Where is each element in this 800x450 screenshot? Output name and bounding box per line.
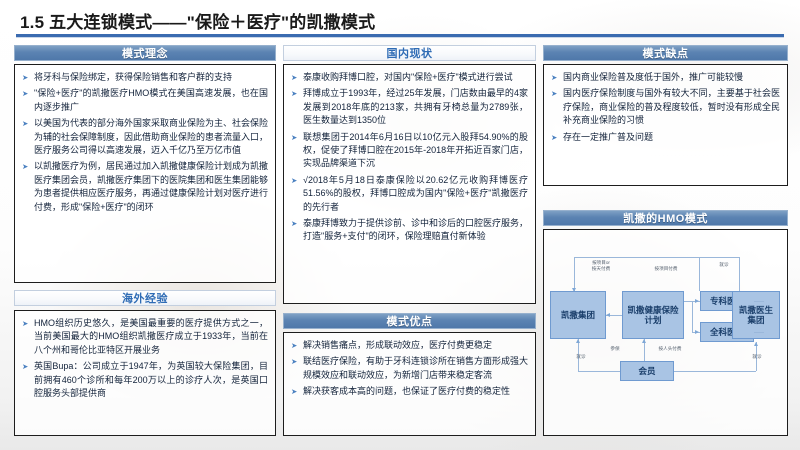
list-item: 解决获客成本高的问题，也保证了医疗付费的稳定性 <box>291 385 528 398</box>
edge-bottom-left-arrow <box>576 339 580 343</box>
list-item: 联想集团于2014年6月16日以10亿元入股拜54.90%的股权，促使了拜博口腔… <box>291 131 528 171</box>
edge-spec-dg <box>754 301 764 302</box>
list-item: 英国Bupa：公司成立于1947年，为英国较大保险集团，目前拥有460个诊所和每… <box>22 360 268 400</box>
bullet-list-pros: 解决销售痛点，形成联动效应，医疗付费更稳定 联结医疗保险，有助于牙科连锁诊所在销… <box>291 339 528 399</box>
bullet-list-concept: 将牙科与保险绑定，获得保险销售和客户群的支持 "保险+医疗"的凯撒医疗HMO模式… <box>22 71 268 214</box>
edge-label-per-capita: 按人头付费 <box>648 346 692 352</box>
edge-top-h2 <box>699 257 739 258</box>
edge-label-visit-top: 就诊 <box>712 262 736 268</box>
edge-bottom-right-arrow <box>754 342 758 346</box>
list-item: 泰康拜博致力于提供诊前、诊中和诊后的口腔医疗服务，打造"服务+支付"的闭环，保险… <box>291 217 528 244</box>
panel-hmo-diagram: 按项目or 按天付费 按项目付费 就诊 凯撒集团 凯撒健康保险计划 专科医生 全… <box>543 229 788 436</box>
edge-gp-dg <box>754 332 764 333</box>
edge-plan-gp-arrow <box>695 330 699 334</box>
bullet-list-domestic: 泰康收购拜博口腔，对国内"保险+医疗"模式进行尝试 拜博成立于1993年，经过2… <box>291 71 528 244</box>
title-underline-soft <box>16 37 784 38</box>
edge-top-h <box>574 257 699 258</box>
section-header-cons: 模式缺点 <box>543 45 788 61</box>
section-header-overseas: 海外经验 <box>14 290 276 306</box>
section-header-hmo: 凯撒的HMO模式 <box>543 210 788 226</box>
edge-plan-branch-v <box>692 301 693 332</box>
list-item: HMO组织历史悠久，是美国最重要的医疗提供方式之一，当前美国最大的HMO组织凯撒… <box>22 317 268 357</box>
edge-plan-to-group-arrow <box>606 313 610 317</box>
edge-label-insure: 参保 <box>602 346 628 352</box>
panel-pros: 解决销售痛点，形成联动效应，医疗付费更稳定 联结医疗保险，有助于牙科连锁诊所在销… <box>283 332 536 436</box>
edge-label-item-or-day: 按项目or 按天付费 <box>578 260 624 272</box>
node-member: 会员 <box>620 361 674 381</box>
list-item: 国内医疗保险制度与国外有较大不同，主要基于社会医疗保险，商业保险的普及程度较低，… <box>551 87 780 127</box>
edge-doctorgroup-v <box>739 257 740 295</box>
section-header-pros: 模式优点 <box>283 313 536 329</box>
list-item: √2018年5月18日泰康保险以20.62亿元收购拜博医疗51.56%的股权，拜… <box>291 174 528 214</box>
node-health-plan: 凯撒健康保险计划 <box>622 291 684 339</box>
list-item: "保险+医疗"的凯撒医疗HMO模式在美国高速发展，也在国内逐步推广 <box>22 87 268 114</box>
list-item: 存在一定推广普及问题 <box>551 131 780 144</box>
edge-top-right-v <box>699 257 700 291</box>
edge-label-visit-left: 就诊 <box>568 354 594 360</box>
panel-cons: 国内商业保险普及度低于国外，推广可能较慢 国内医疗保险制度与国外有较大不同，主要… <box>543 64 788 186</box>
list-item: 联结医疗保险，有助于牙科连锁诊所在销售方面形成强大规模效应和联动效应，为新增门店… <box>291 355 528 382</box>
list-item: 拜博成立于1993年，经过25年发展，门店数由最早的4家发展到2018年底的21… <box>291 87 528 127</box>
list-item: 将牙科与保险绑定，获得保险销售和客户群的支持 <box>22 71 268 84</box>
list-item: 以美国为代表的部分海外国家采取商业保险为主、社会保险为辅的社会保障制度，因此借助… <box>22 117 268 157</box>
edge-bottom-left-h <box>578 371 626 372</box>
panel-concept: 将牙科与保险绑定，获得保险销售和客户群的支持 "保险+医疗"的凯撒医疗HMO模式… <box>14 64 276 283</box>
panel-domestic: 泰康收购拜博口腔，对国内"保险+医疗"模式进行尝试 拜博成立于1993年，经过2… <box>283 64 536 304</box>
edge-bottom-right-h <box>674 371 756 372</box>
section-header-domestic: 国内现状 <box>283 45 536 61</box>
bullet-list-cons: 国内商业保险普及度低于国外，推广可能较慢 国内医疗保险制度与国外有较大不同，主要… <box>551 71 780 144</box>
bullet-list-overseas: HMO组织历史悠久，是美国最重要的医疗提供方式之一，当前美国最大的HMO组织凯撒… <box>22 317 268 400</box>
edge-label-visit-right: 就诊 <box>744 354 770 360</box>
list-item: 泰康收购拜博口腔，对国内"保险+医疗"模式进行尝试 <box>291 71 528 84</box>
section-header-concept: 模式理念 <box>14 45 276 61</box>
hmo-flow-diagram: 按项目or 按天付费 按项目付费 就诊 凯撒集团 凯撒健康保险计划 专科医生 全… <box>544 230 787 435</box>
panel-overseas: HMO组织历史悠久，是美国最重要的医疗提供方式之一，当前美国最大的HMO组织凯撒… <box>14 310 276 436</box>
edge-member-plan-arrow <box>642 339 646 343</box>
edge-label-item-pay: 按项目付费 <box>639 266 693 272</box>
slide-canvas: 1.5 五大连锁模式——"保险＋医疗"的凯撒模式 模式理念 将牙科与保险绑定，获… <box>0 0 800 450</box>
edge-top-left-v <box>574 257 575 291</box>
list-item: 以凯撒医疗为例，居民通过加入凯撒健康保险计划成为凯撒医疗集团会员，凯撒医疗集团下… <box>22 160 268 214</box>
list-item: 解决销售痛点，形成联动效应，医疗付费更稳定 <box>291 339 528 352</box>
edge-plan-spec-arrow <box>695 299 699 303</box>
node-kaiser-group: 凯撒集团 <box>550 291 606 339</box>
list-item: 国内商业保险普及度低于国外，推广可能较慢 <box>551 71 780 84</box>
page-title: 1.5 五大连锁模式——"保险＋医疗"的凯撒模式 <box>20 8 375 33</box>
slide-title-area: 1.5 五大连锁模式——"保险＋医疗"的凯撒模式 <box>0 6 800 38</box>
